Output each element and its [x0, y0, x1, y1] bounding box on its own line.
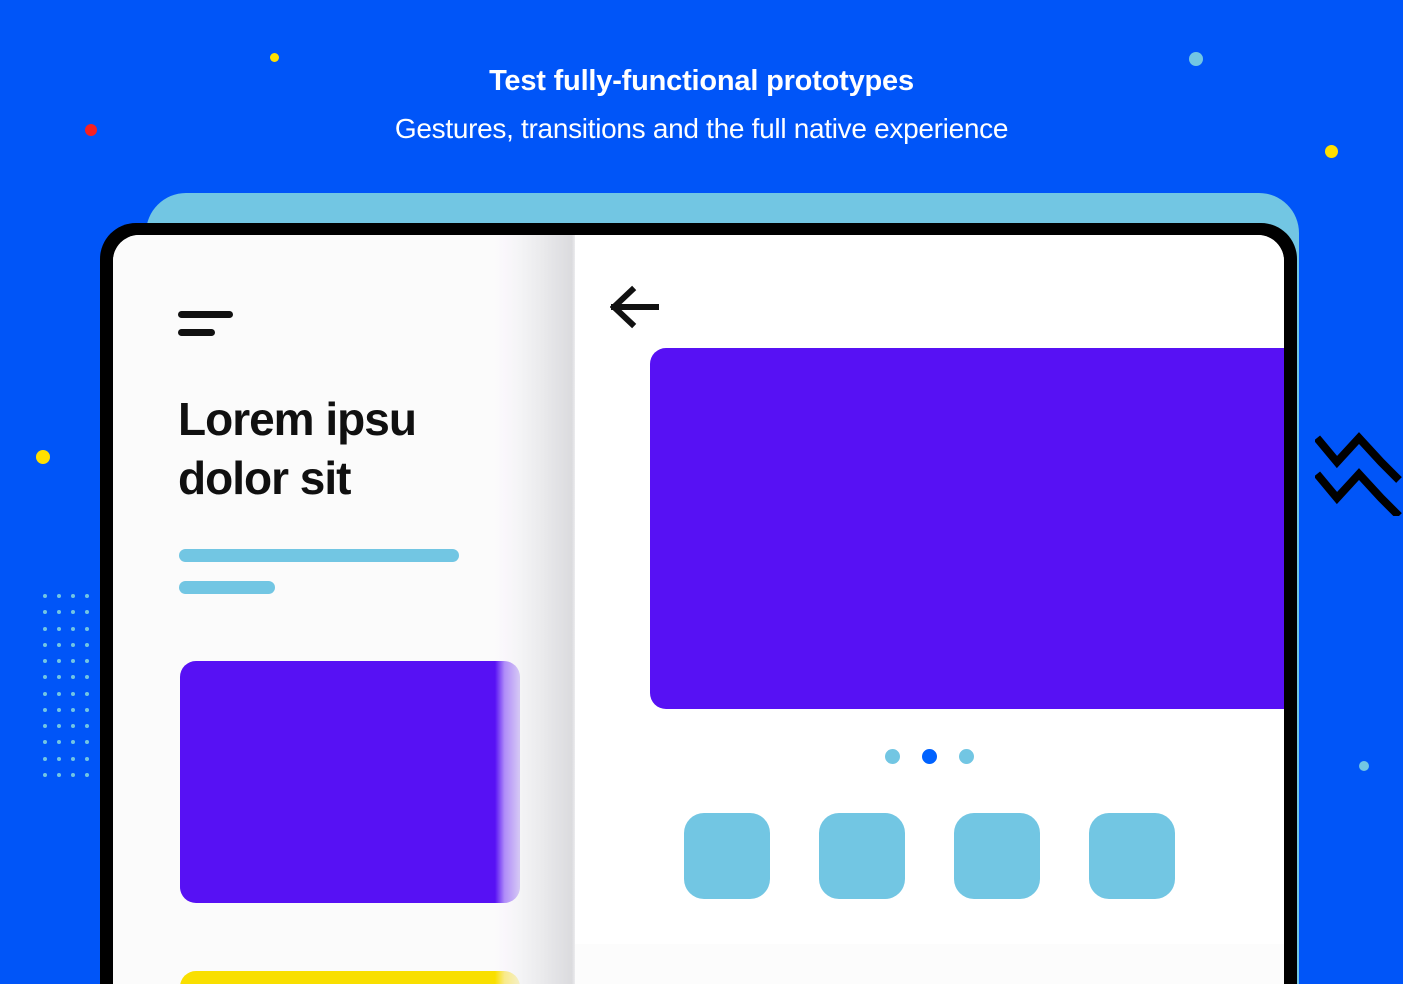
card-purple[interactable] [180, 661, 520, 903]
tile-4[interactable] [1089, 813, 1175, 899]
device-screen: Lorem ipsu dolor sit [113, 235, 1284, 984]
pagination-dots [575, 749, 1284, 764]
zigzag-pattern [1315, 424, 1403, 516]
screen-current [575, 235, 1284, 944]
page-subtitle: Gestures, transitions and the full nativ… [0, 114, 1403, 145]
arrow-left-icon[interactable] [610, 285, 662, 329]
text-placeholder-bar-long [179, 549, 459, 562]
pagination-dot-3[interactable] [959, 749, 974, 764]
text-placeholder-bar-short [179, 581, 275, 594]
tile-1[interactable] [684, 813, 770, 899]
deco-dot-yellow-left [36, 450, 50, 464]
hero-copy: Test fully-functional prototypes Gesture… [0, 0, 1403, 145]
deco-dot-blue-bottom [1359, 761, 1369, 771]
hamburger-icon[interactable] [178, 311, 233, 336]
device-mockup: Lorem ipsu dolor sit [100, 193, 1299, 984]
pagination-dot-2-active[interactable] [922, 749, 937, 764]
hero-media-card[interactable] [650, 348, 1284, 709]
dot-grid-pattern [38, 588, 94, 783]
tile-2[interactable] [819, 813, 905, 899]
screen-previous: Lorem ipsu dolor sit [113, 235, 573, 984]
left-screen-heading: Lorem ipsu dolor sit [178, 390, 573, 508]
tile-row [575, 813, 1284, 899]
card-yellow[interactable] [180, 971, 520, 984]
tile-3[interactable] [954, 813, 1040, 899]
pagination-dot-1[interactable] [885, 749, 900, 764]
heading-line-1: Lorem ipsu [178, 390, 573, 449]
heading-line-2: dolor sit [178, 449, 573, 508]
deco-dot-yellow-right [1325, 145, 1338, 158]
page-title: Test fully-functional prototypes [0, 66, 1403, 98]
